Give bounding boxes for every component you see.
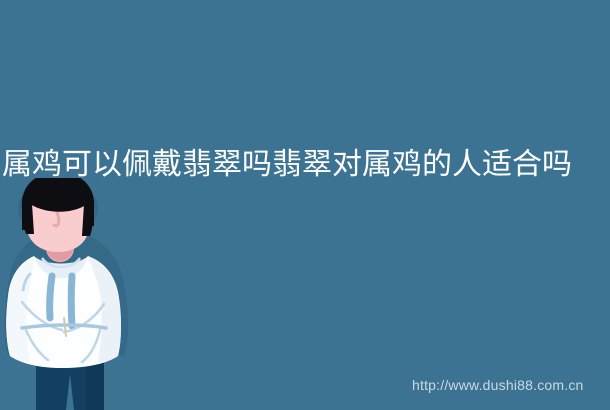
- person-illustration-svg: [0, 178, 170, 410]
- person-illustration: [0, 178, 170, 410]
- watermark-url: http://www.dushi88.com.cn: [412, 377, 584, 393]
- drawstring-right: [71, 276, 72, 326]
- hair-side-right: [82, 204, 94, 236]
- article-cover-banner: 属鸡可以佩戴翡翠吗翡翠对属鸡的人适合吗: [0, 0, 610, 410]
- drawstring-left: [50, 276, 52, 318]
- hoodie: [6, 256, 121, 368]
